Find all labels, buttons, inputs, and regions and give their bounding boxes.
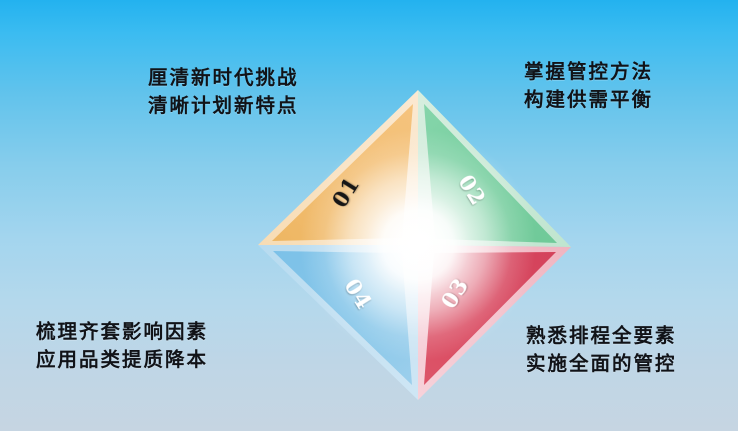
slide-canvas: 01 02 03 04 厘清新时代挑战 清晰计划新特点 掌握管控方法 构建供需平… — [0, 0, 738, 431]
caption-04-line-1: 梳理齐套影响因素 — [36, 318, 208, 346]
caption-02-line-1: 掌握管控方法 — [524, 58, 653, 86]
caption-03-line-2: 实施全面的管控 — [526, 350, 677, 378]
caption-04: 梳理齐套影响因素 应用品类提质降本 — [36, 318, 208, 373]
caption-02-line-2: 构建供需平衡 — [524, 86, 653, 114]
caption-04-line-2: 应用品类提质降本 — [36, 346, 208, 374]
caption-01: 厘清新时代挑战 清晰计划新特点 — [148, 64, 299, 119]
center-glow — [300, 129, 536, 361]
caption-03-line-1: 熟悉排程全要素 — [526, 322, 677, 350]
caption-01-line-2: 清晰计划新特点 — [148, 92, 299, 120]
caption-02: 掌握管控方法 构建供需平衡 — [524, 58, 653, 113]
caption-03: 熟悉排程全要素 实施全面的管控 — [526, 322, 677, 377]
caption-01-line-1: 厘清新时代挑战 — [148, 64, 299, 92]
